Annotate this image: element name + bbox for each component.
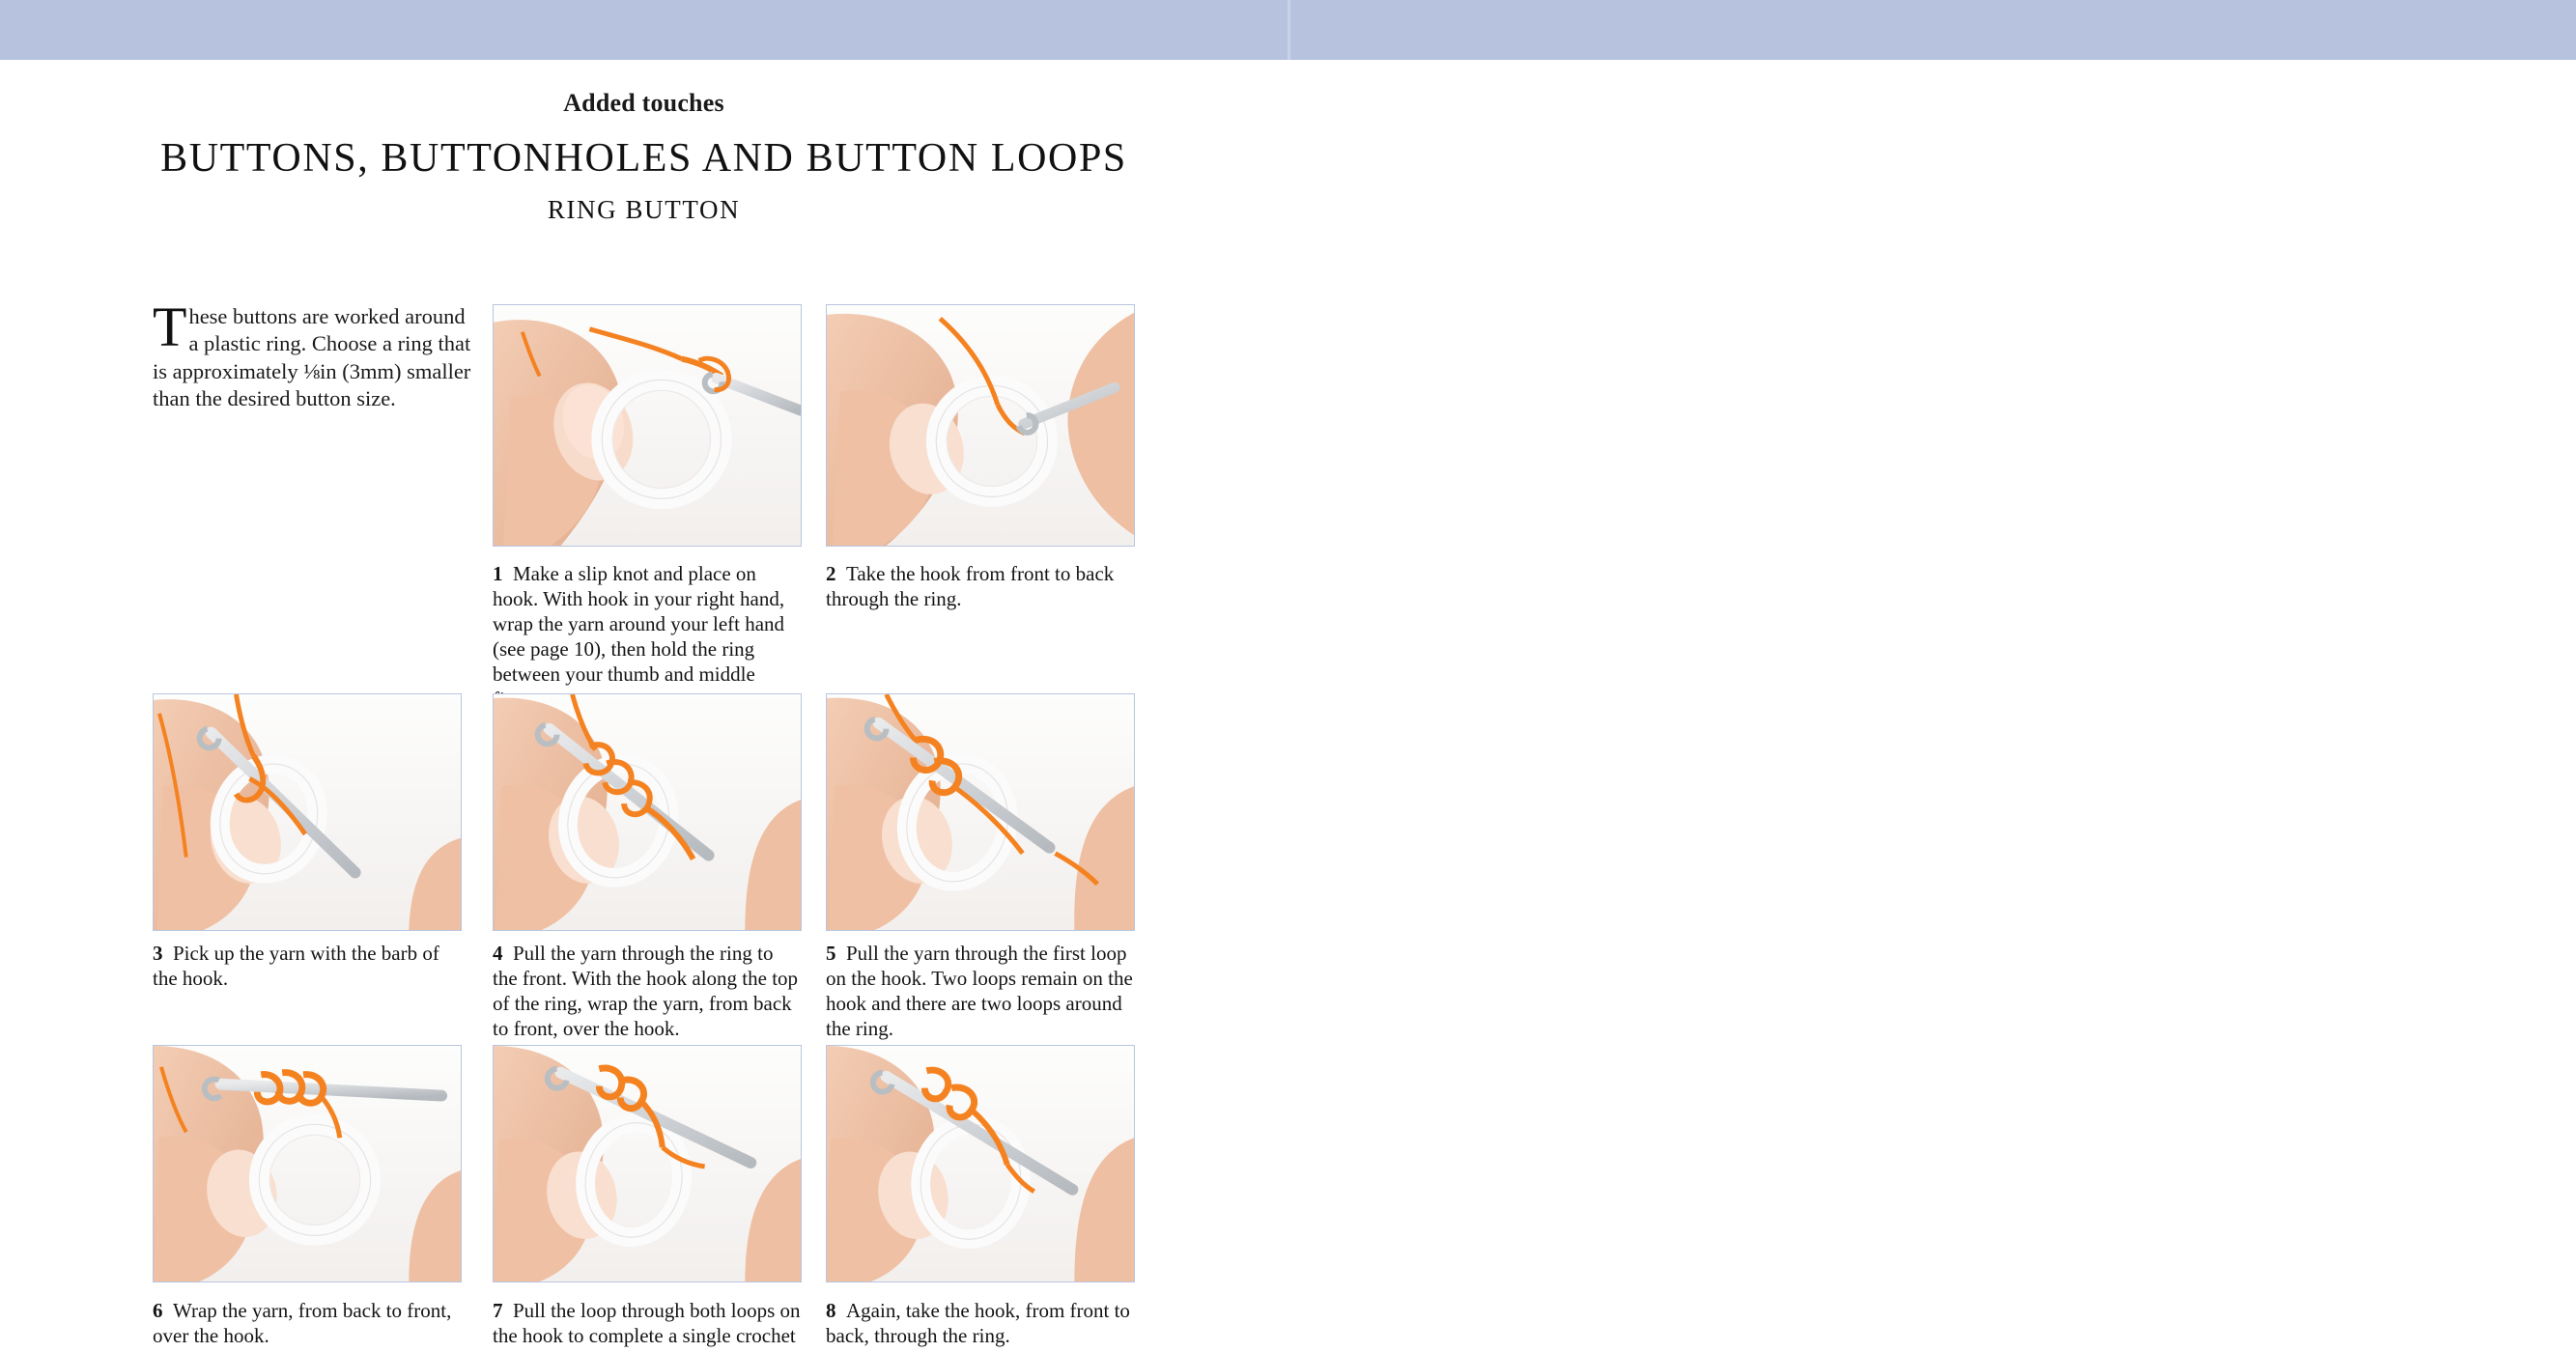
page-kicker: Added touches bbox=[0, 89, 1288, 118]
top-blue-banner bbox=[0, 0, 2576, 60]
photo-yarn-pulled-through-ring bbox=[493, 693, 802, 931]
photo-yarn-wrapped-over-hook bbox=[153, 1045, 462, 1282]
figure-step-5 bbox=[826, 693, 1135, 931]
step-number: 1 bbox=[493, 562, 503, 585]
step-number: 4 bbox=[493, 942, 503, 965]
step-text: Wrap the yarn, from back to front, over … bbox=[153, 1299, 451, 1347]
figure-step-4 bbox=[493, 693, 802, 931]
step-text: Take the hook from front to back through… bbox=[826, 562, 1114, 610]
step-number: 6 bbox=[153, 1299, 163, 1322]
intro-paragraph: These buttons are worked around a plasti… bbox=[153, 303, 471, 412]
photo-hook-through-ring-again bbox=[826, 1045, 1135, 1282]
photo-two-loops-on-hook bbox=[826, 693, 1135, 931]
figure-step-1 bbox=[493, 304, 802, 547]
step-number: 8 bbox=[826, 1299, 836, 1322]
photo-single-crochet-completed bbox=[493, 1045, 802, 1282]
caption-step-7: 7 Pull the loop through both loops on th… bbox=[493, 1299, 802, 1352]
photo-hand-holding-ring-with-hook bbox=[493, 304, 802, 547]
page-title: BUTTONS, BUTTONHOLES AND BUTTON LOOPS bbox=[0, 135, 1288, 182]
step-text: Again, take the hook, from front to back… bbox=[826, 1299, 1130, 1347]
caption-step-1: 1 Make a slip knot and place on hook. Wi… bbox=[493, 562, 802, 713]
step-number: 5 bbox=[826, 942, 836, 965]
right-page: RING BUTTON-continued bbox=[1288, 60, 2576, 1352]
figure-step-3 bbox=[153, 693, 462, 931]
figure-step-6 bbox=[153, 1045, 462, 1282]
photo-hook-barb-catching-yarn bbox=[153, 693, 462, 931]
caption-step-6: 6 Wrap the yarn, from back to front, ove… bbox=[153, 1299, 462, 1349]
drop-cap: T bbox=[153, 303, 188, 350]
step-number: 7 bbox=[493, 1299, 503, 1322]
photo-hook-entering-ring-front-to-back bbox=[826, 304, 1135, 547]
caption-step-4: 4 Pull the yarn through the ring to the … bbox=[493, 942, 802, 1042]
page-subtitle: RING BUTTON bbox=[0, 195, 1288, 225]
figure-step-2 bbox=[826, 304, 1135, 547]
left-page: Added touches BUTTONS, BUTTONHOLES AND B… bbox=[0, 60, 1288, 1352]
book-spread: Added touches BUTTONS, BUTTONHOLES AND B… bbox=[0, 0, 2576, 1352]
banner-gutter-line bbox=[1288, 0, 1290, 60]
step-text: Make a slip knot and place on hook. With… bbox=[493, 562, 784, 711]
figure-step-8 bbox=[826, 1045, 1135, 1282]
figure-step-7 bbox=[493, 1045, 802, 1282]
caption-step-2: 2 Take the hook from front to back throu… bbox=[826, 562, 1135, 612]
step-number: 3 bbox=[153, 942, 163, 965]
step-text: Pull the yarn through the ring to the fr… bbox=[493, 942, 798, 1040]
caption-step-5: 5 Pull the yarn through the first loop o… bbox=[826, 942, 1135, 1042]
step-text: Pick up the yarn with the barb of the ho… bbox=[153, 942, 439, 990]
caption-step-3: 3 Pick up the yarn with the barb of the … bbox=[153, 942, 462, 992]
intro-body: hese buttons are worked around a plastic… bbox=[153, 304, 470, 410]
step-number: 2 bbox=[826, 562, 836, 585]
step-text: Pull the yarn through the first loop on … bbox=[826, 942, 1133, 1040]
step-text: Pull the loop through both loops on the … bbox=[493, 1299, 801, 1352]
caption-step-8: 8 Again, take the hook, from front to ba… bbox=[826, 1299, 1135, 1349]
